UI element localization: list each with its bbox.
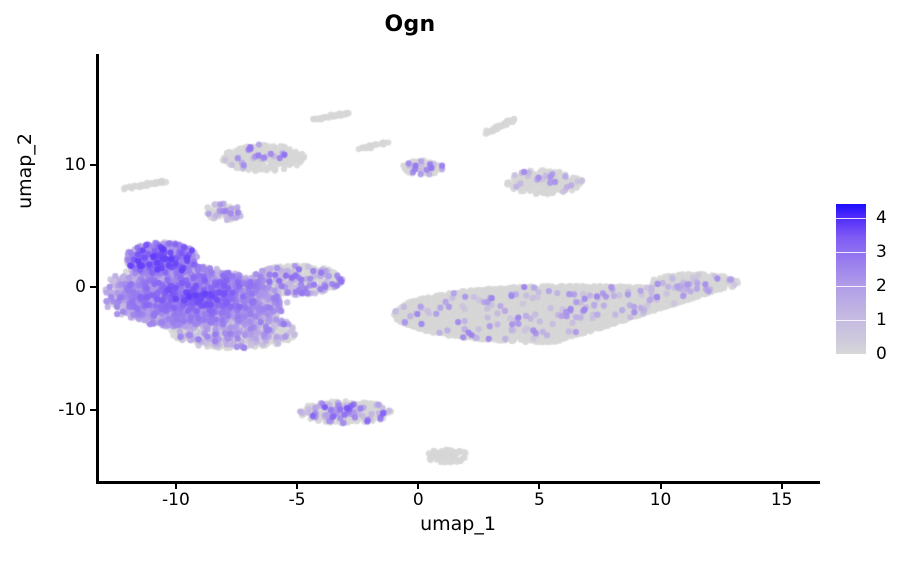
- x-tick-label: 15: [771, 490, 793, 510]
- x-tick-mark: [175, 483, 177, 489]
- colorbar-tick-label: 0: [876, 344, 887, 364]
- colorbar-tick-mark: [836, 252, 866, 254]
- colorbar-tick-mark: [836, 286, 866, 288]
- x-tick-label: 0: [413, 490, 424, 510]
- y-tick-label: 10: [64, 155, 86, 175]
- x-tick-label: 10: [650, 490, 672, 510]
- y-tick-mark: [90, 286, 96, 288]
- colorbar-tick-label: 1: [876, 310, 887, 330]
- x-tick-mark: [781, 483, 783, 489]
- y-tick-mark: [90, 409, 96, 411]
- y-axis-spine: [96, 54, 99, 484]
- x-tick-mark: [538, 483, 540, 489]
- umap-feature-plot: Ogn -10-5051015 -10010 umap_1 umap_2 012…: [0, 0, 911, 562]
- x-tick-mark: [296, 483, 298, 489]
- colorbar-tick-mark: [836, 218, 866, 220]
- x-axis-spine: [96, 481, 820, 484]
- colorbar-tick-label: 3: [876, 242, 887, 262]
- x-tick-mark: [660, 483, 662, 489]
- x-tick-label: -10: [162, 490, 190, 510]
- scatter-plot-canvas: [96, 55, 818, 483]
- y-axis-label: umap_2: [14, 91, 36, 251]
- colorbar-tick-label: 2: [876, 276, 887, 296]
- colorbar-tick-mark: [836, 320, 866, 322]
- y-tick-mark: [90, 164, 96, 166]
- colorbar-gradient: [836, 204, 866, 354]
- scatter-points-layer: [96, 55, 818, 483]
- y-tick-label: 0: [75, 277, 86, 297]
- page-title: Ogn: [0, 12, 820, 37]
- y-tick-label: -10: [58, 400, 86, 420]
- colorbar-tick-label: 4: [876, 208, 887, 228]
- x-tick-label: -5: [289, 490, 306, 510]
- x-tick-label: 5: [534, 490, 545, 510]
- colorbar: [836, 204, 866, 354]
- x-axis-label: umap_1: [96, 513, 820, 535]
- x-tick-mark: [417, 483, 419, 489]
